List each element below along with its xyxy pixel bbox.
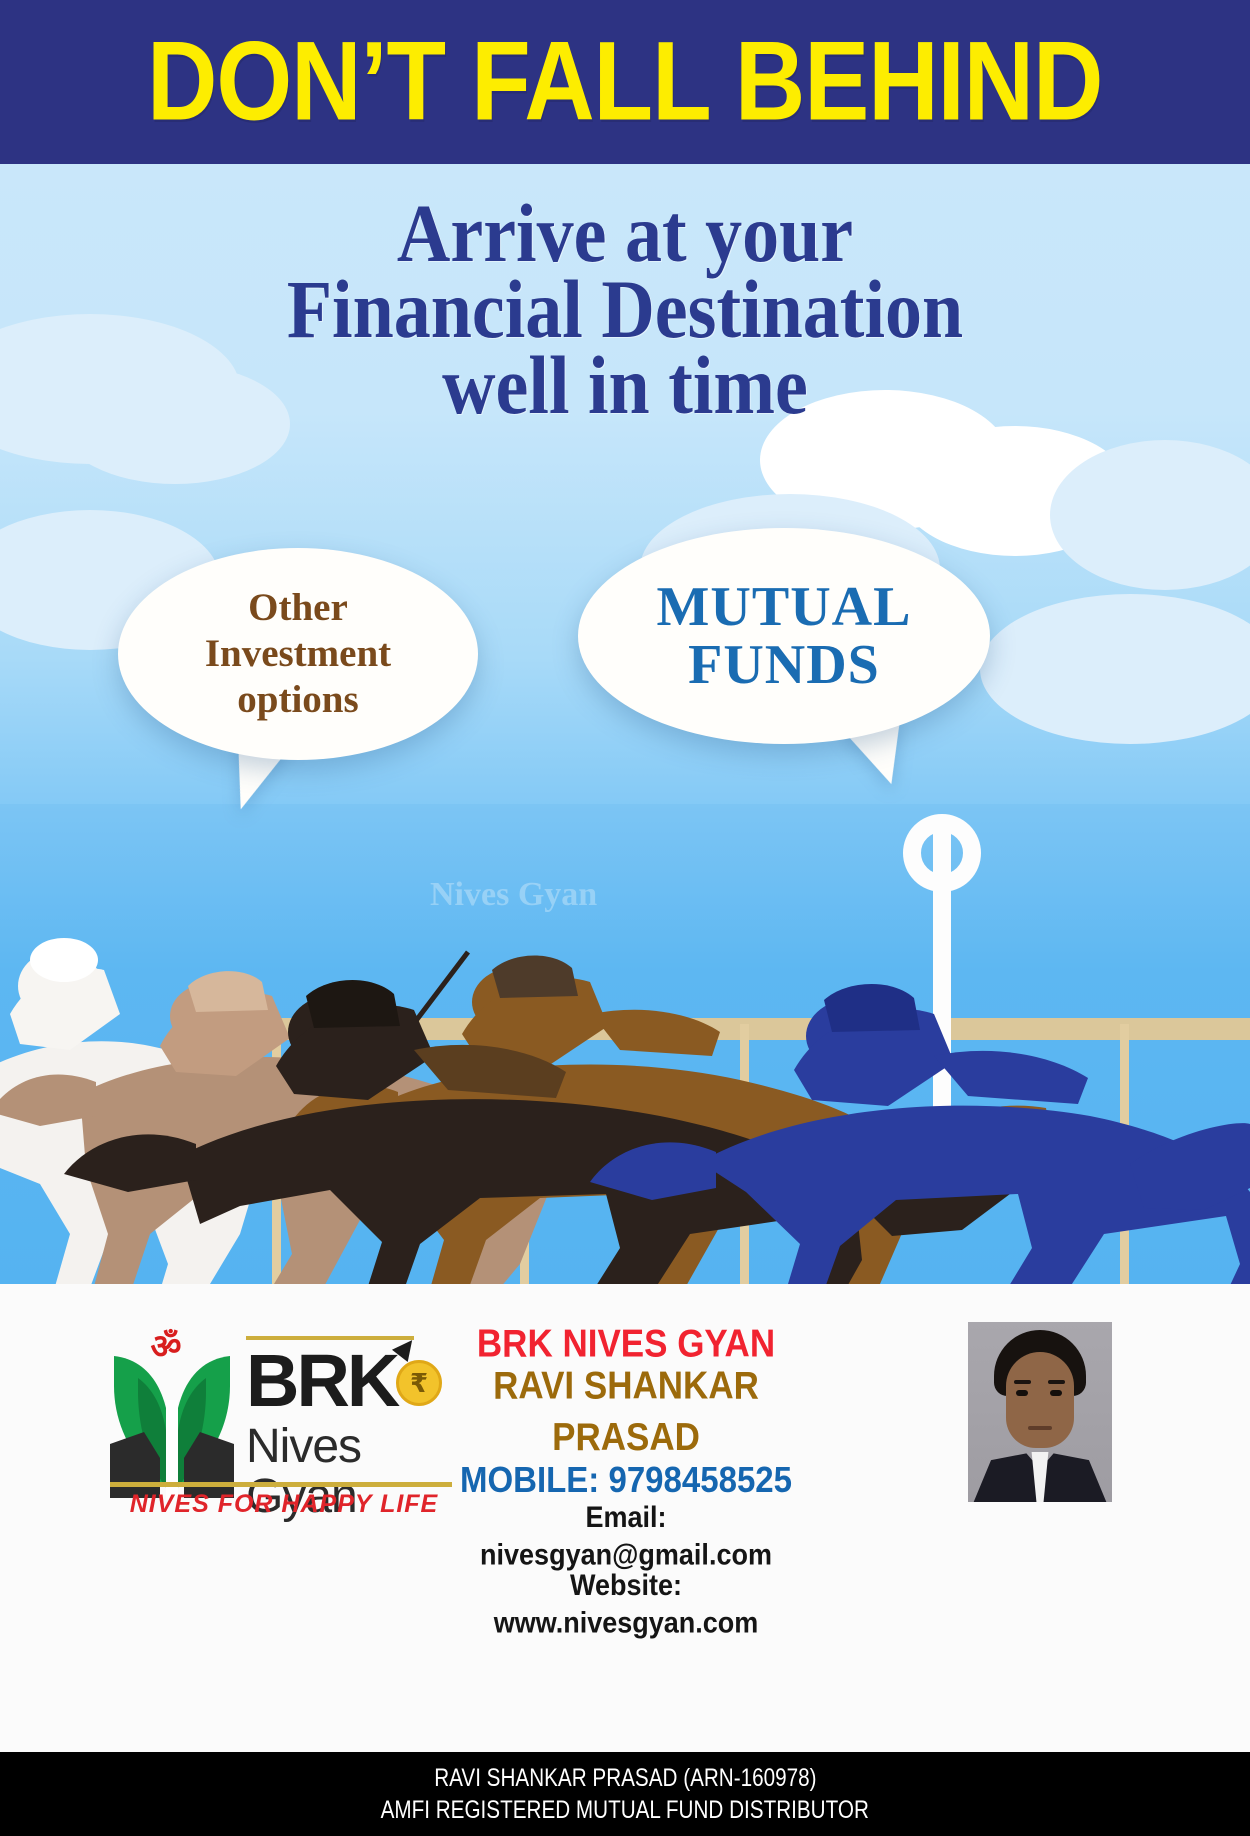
contact-email[interactable]: Email: nivesgyan@gmail.com bbox=[452, 1499, 800, 1574]
portrait-mouth bbox=[1028, 1426, 1052, 1430]
portrait-brow-right bbox=[1048, 1380, 1065, 1384]
brand-logo: ॐ BRK ₹ Nives Gyan NIVES FOR HAPPY LIFE bbox=[96, 1330, 466, 1530]
horses-illustration bbox=[0, 764, 1250, 1284]
cloud-9 bbox=[980, 594, 1250, 744]
portrait-eye-left bbox=[1016, 1390, 1028, 1396]
contact-block: BRK NIVES GYAN RAVI SHANKAR PRASAD MOBIL… bbox=[452, 1322, 800, 1638]
portrait-brow-left bbox=[1014, 1380, 1031, 1384]
bottom-registration-bar: RAVI SHANKAR PRASAD (ARN-160978) AMFI RE… bbox=[0, 1752, 1250, 1836]
bubble-left-line-1: Other bbox=[205, 585, 391, 631]
bubble-mutual-funds: MUTUAL FUNDS bbox=[578, 528, 990, 744]
bubble-left-line-2: Investment bbox=[205, 631, 391, 677]
bubble-right-line-2: FUNDS bbox=[657, 636, 912, 694]
om-symbol-icon: ॐ bbox=[146, 1328, 186, 1368]
advisor-portrait-photo bbox=[968, 1322, 1112, 1502]
bubble-left-line-3: options bbox=[205, 677, 391, 723]
portrait-eye-right bbox=[1050, 1390, 1062, 1396]
hero-headline: Arrive at your Financial Destination wel… bbox=[0, 196, 1250, 424]
logo-bottom-rule bbox=[110, 1482, 452, 1487]
bubble-other-investments: Other Investment options bbox=[118, 548, 478, 760]
banner-headline: DON’T FALL BEHIND bbox=[147, 18, 1102, 146]
race-scene: Arrive at your Financial Destination wel… bbox=[0, 164, 1250, 1284]
top-banner: DON’T FALL BEHIND bbox=[0, 0, 1250, 164]
portrait-face bbox=[1006, 1352, 1074, 1448]
amfi-line: AMFI REGISTERED MUTUAL FUND DISTRIBUTOR bbox=[381, 1792, 869, 1829]
bubble-right-line-1: MUTUAL bbox=[657, 578, 912, 636]
contact-person: RAVI SHANKAR PRASAD bbox=[452, 1360, 800, 1463]
brk-wordmark: BRK bbox=[246, 1344, 397, 1418]
hero-line-3: well in time bbox=[0, 343, 1250, 428]
rupee-coin-icon: ₹ bbox=[396, 1360, 442, 1406]
contact-website[interactable]: Website: www.nivesgyan.com bbox=[452, 1567, 800, 1642]
contact-mobile[interactable]: MOBILE: 9798458525 bbox=[452, 1456, 800, 1504]
logo-tagline: NIVES FOR HAPPY LIFE bbox=[110, 1490, 458, 1519]
